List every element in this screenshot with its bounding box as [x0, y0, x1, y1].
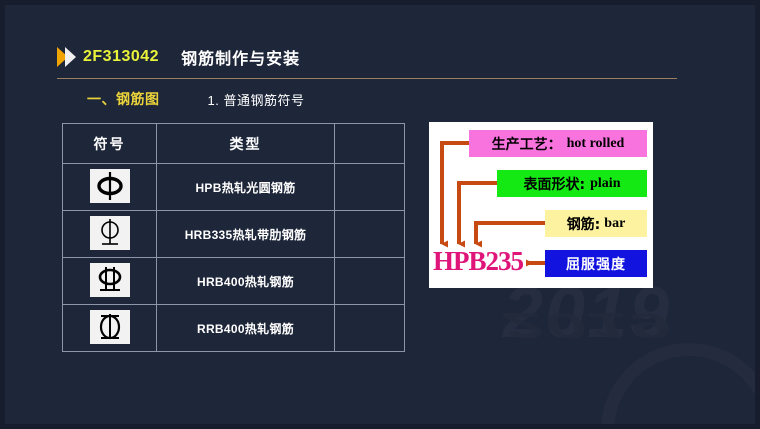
extra-cell [335, 305, 405, 352]
table-row: HPB热轧光圆钢筋 [63, 164, 405, 211]
hpb235-breakdown-diagram: 生产工艺： hot rolled 表面形状: plain 钢筋: bar 屈服强… [429, 122, 653, 288]
table-header-row: 符号 类型 [63, 124, 405, 164]
subsection-label: 一、钢筋图 [87, 89, 160, 109]
box-surface-shape-en: plain [590, 176, 620, 192]
type-cell: HPB热轧光圆钢筋 [157, 164, 335, 211]
extra-cell [335, 258, 405, 305]
arc-watermark [601, 343, 760, 429]
column-header-symbol: 符号 [63, 124, 157, 164]
slide-header: 2F313042 钢筋制作与安装 [57, 41, 677, 73]
header-divider [57, 78, 677, 79]
symbol-cell [63, 211, 157, 258]
type-cell: RRB400热轧钢筋 [157, 305, 335, 352]
box-rebar-cn: 钢筋: [567, 214, 601, 234]
symbol-cell [63, 305, 157, 352]
column-header-type: 类型 [157, 124, 335, 164]
subsection-topic: 1. 普通钢筋符号 [208, 90, 305, 109]
symbol-cell [63, 164, 157, 211]
box-surface-shape-cn: 表面形状: [524, 174, 586, 194]
box-yield-strength: 屈服强度 [545, 250, 647, 277]
symbol-cell [63, 258, 157, 305]
result-label-hpb235: HPB235 [433, 246, 523, 277]
box-production-process: 生产工艺： hot rolled [469, 130, 647, 157]
box-rebar: 钢筋: bar [545, 210, 647, 237]
column-header-extra [335, 124, 405, 164]
year-watermark-reflection: 2019 [503, 307, 671, 343]
box-production-process-cn: 生产工艺： [492, 134, 562, 154]
chevron-right-icon-secondary [65, 47, 76, 67]
type-cell: HRB335热轧带肋钢筋 [157, 211, 335, 258]
page-title: 钢筋制作与安装 [181, 45, 300, 69]
phi-double-bar-icon [90, 263, 130, 297]
box-yield-strength-cn: 屈服强度 [566, 254, 626, 274]
box-surface-shape: 表面形状: plain [497, 170, 647, 197]
phi-triple-bar-icon [90, 310, 130, 344]
type-cell: HRB400热轧钢筋 [157, 258, 335, 305]
slide-subheader: 一、钢筋图 1. 普通钢筋符号 [87, 88, 687, 110]
phi-ribbed-icon [90, 216, 130, 250]
extra-cell [335, 164, 405, 211]
rebar-symbol-table: 符号 类型 HPB热轧光圆钢筋 [62, 123, 405, 352]
box-production-process-en: hot rolled [567, 136, 625, 152]
section-code: 2F313042 [83, 48, 159, 66]
table-row: RRB400热轧钢筋 [63, 305, 405, 352]
table-row: HRB400热轧钢筋 [63, 258, 405, 305]
table-row: HRB335热轧带肋钢筋 [63, 211, 405, 258]
double-chevron-icon [57, 47, 73, 67]
slide-canvas: 2019 2019 2F313042 钢筋制作与安装 一、钢筋图 1. 普通钢筋… [0, 0, 760, 429]
extra-cell [335, 211, 405, 258]
box-rebar-en: bar [604, 216, 625, 232]
phi-plain-circle-icon [90, 169, 130, 203]
